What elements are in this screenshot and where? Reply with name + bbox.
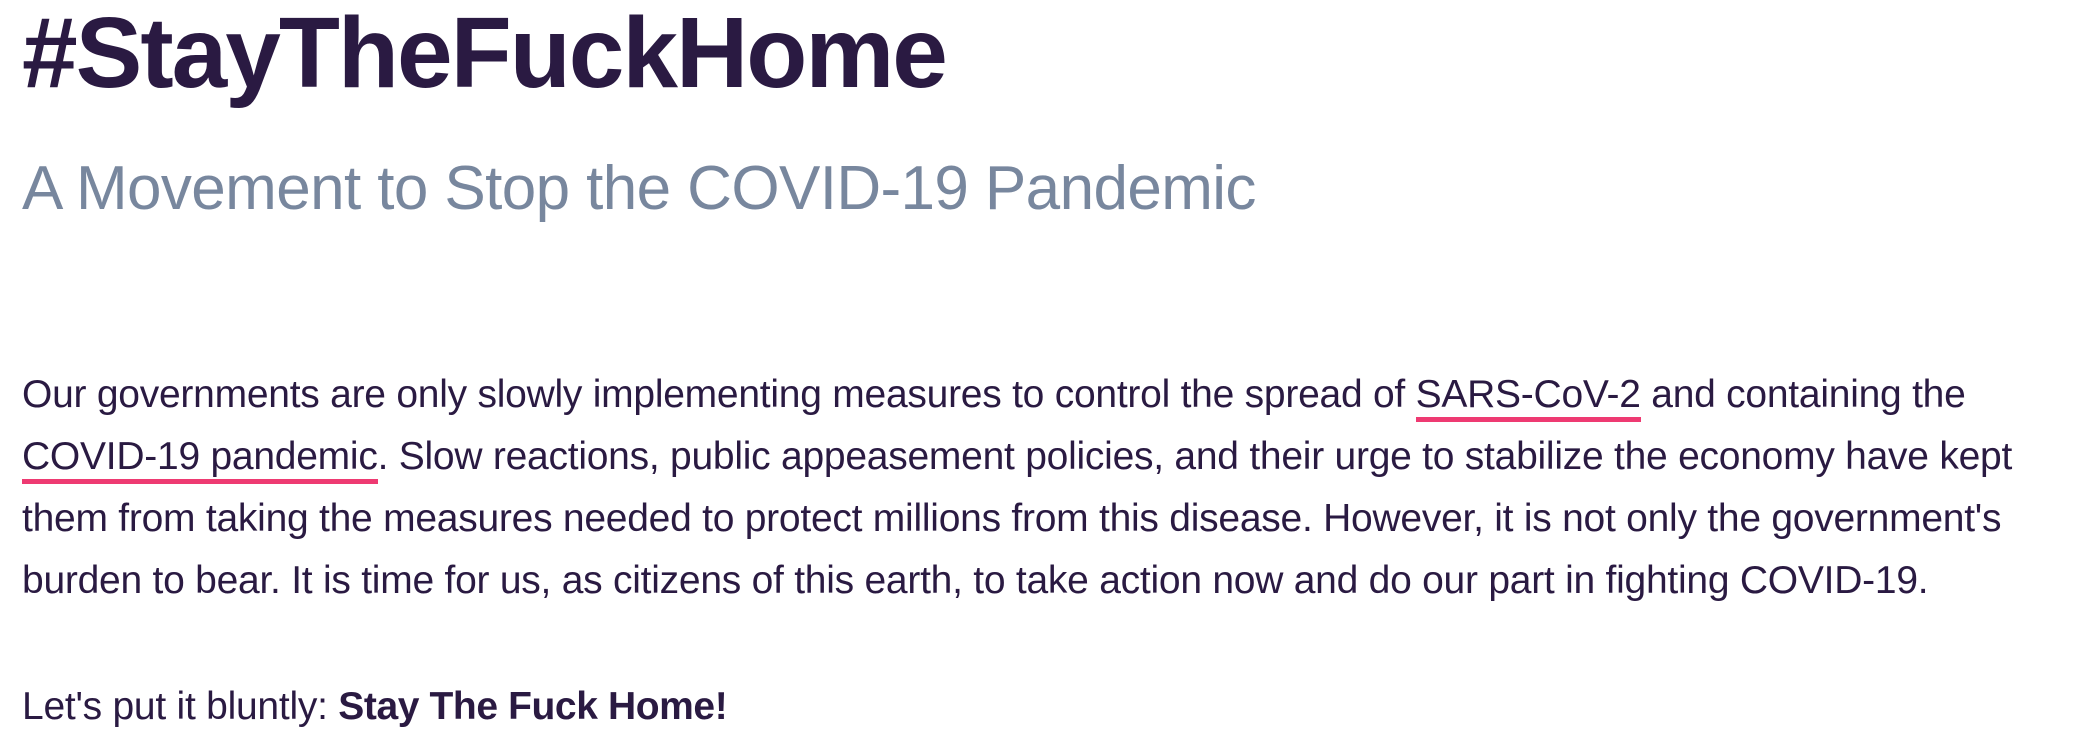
closing-lead-text: Let's put it bluntly: bbox=[22, 685, 338, 728]
page-subtitle: A Movement to Stop the COVID-19 Pandemic bbox=[22, 148, 1256, 230]
link-sars-cov-2[interactable]: SARS-CoV-2 bbox=[1416, 373, 1641, 422]
paragraph-text-segment-2: and containing the bbox=[1641, 373, 1966, 416]
intro-paragraph: Our governments are only slowly implemen… bbox=[22, 364, 2078, 612]
paragraph-text-segment-1: Our governments are only slowly implemen… bbox=[22, 373, 1416, 416]
page-root: #StayTheFuckHome A Movement to Stop the … bbox=[0, 0, 2094, 748]
closing-emphasis-text: Stay The Fuck Home! bbox=[338, 685, 727, 728]
closing-statement: Let's put it bluntly: Stay The Fuck Home… bbox=[22, 676, 727, 738]
page-title: #StayTheFuckHome bbox=[22, 0, 946, 112]
link-covid-19-pandemic[interactable]: COVID-19 pandemic bbox=[22, 435, 378, 484]
